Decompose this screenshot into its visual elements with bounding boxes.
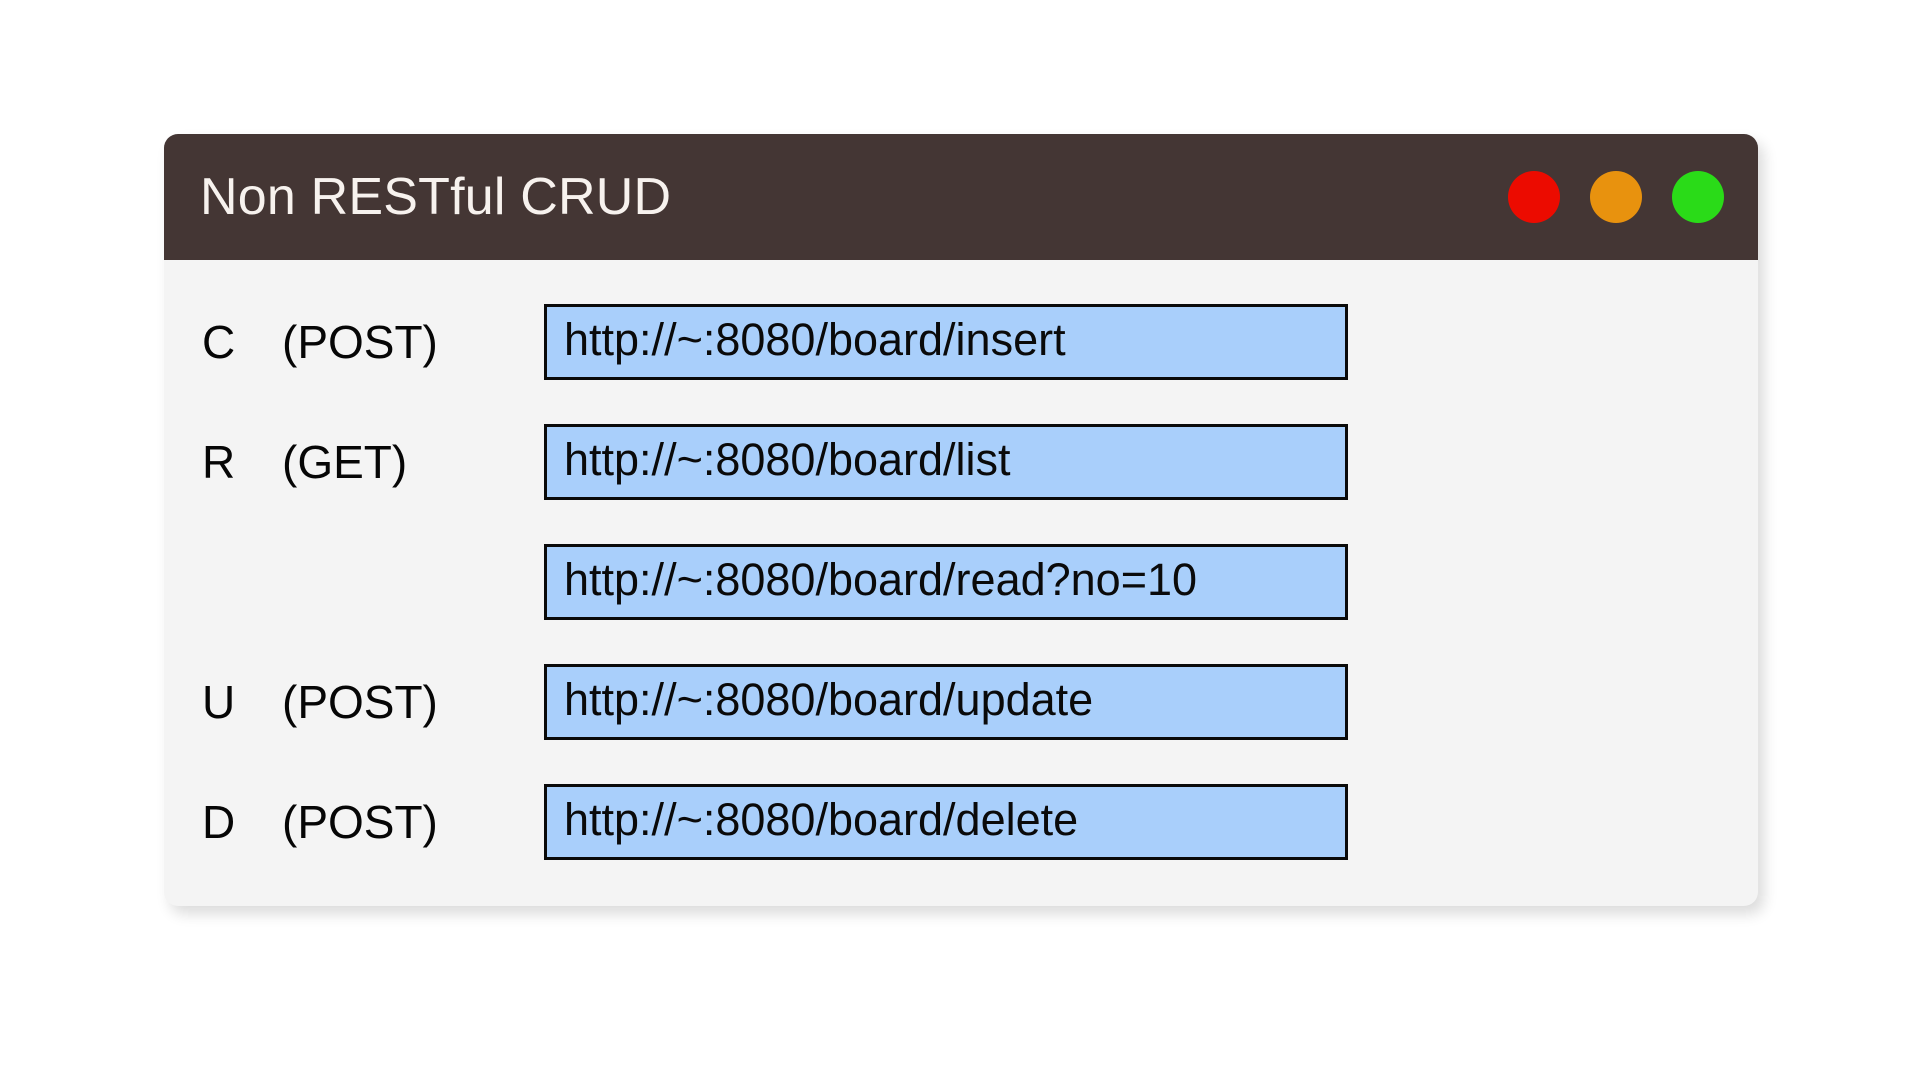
endpoint-url[interactable]: http://~:8080/board/update — [544, 664, 1348, 740]
crud-endpoint-list: C (POST) http://~:8080/board/insert R (G… — [164, 260, 1758, 882]
app-window: Non RESTful CRUD C (POST) http://~:8080/… — [164, 134, 1758, 906]
minimize-icon[interactable] — [1590, 171, 1642, 223]
window-controls — [1508, 171, 1724, 223]
endpoint-url[interactable]: http://~:8080/board/delete — [544, 784, 1348, 860]
url-cell: http://~:8080/board/delete — [544, 784, 1348, 860]
table-row: C (POST) http://~:8080/board/insert — [164, 282, 1758, 402]
endpoint-url[interactable]: http://~:8080/board/insert — [544, 304, 1348, 380]
window-titlebar[interactable]: Non RESTful CRUD — [164, 134, 1758, 260]
screen: Non RESTful CRUD C (POST) http://~:8080/… — [0, 0, 1920, 1080]
http-method-label: (GET) — [282, 439, 544, 485]
maximize-icon[interactable] — [1672, 171, 1724, 223]
page-title: Non RESTful CRUD — [200, 171, 671, 223]
table-row: U (POST) http://~:8080/board/update — [164, 642, 1758, 762]
endpoint-url[interactable]: http://~:8080/board/read?no=10 — [544, 544, 1348, 620]
crud-letter: D — [164, 799, 282, 845]
table-row: R (GET) http://~:8080/board/list — [164, 402, 1758, 522]
crud-letter: U — [164, 679, 282, 725]
url-cell: http://~:8080/board/update — [544, 664, 1348, 740]
url-cell: http://~:8080/board/insert — [544, 304, 1348, 380]
http-method-label: (POST) — [282, 679, 544, 725]
url-cell: http://~:8080/board/list — [544, 424, 1348, 500]
table-row: http://~:8080/board/read?no=10 — [164, 522, 1758, 642]
http-method-label: (POST) — [282, 799, 544, 845]
crud-letter: C — [164, 319, 282, 365]
endpoint-url[interactable]: http://~:8080/board/list — [544, 424, 1348, 500]
url-cell: http://~:8080/board/read?no=10 — [544, 544, 1348, 620]
http-method-label: (POST) — [282, 319, 544, 365]
close-icon[interactable] — [1508, 171, 1560, 223]
table-row: D (POST) http://~:8080/board/delete — [164, 762, 1758, 882]
crud-letter: R — [164, 439, 282, 485]
